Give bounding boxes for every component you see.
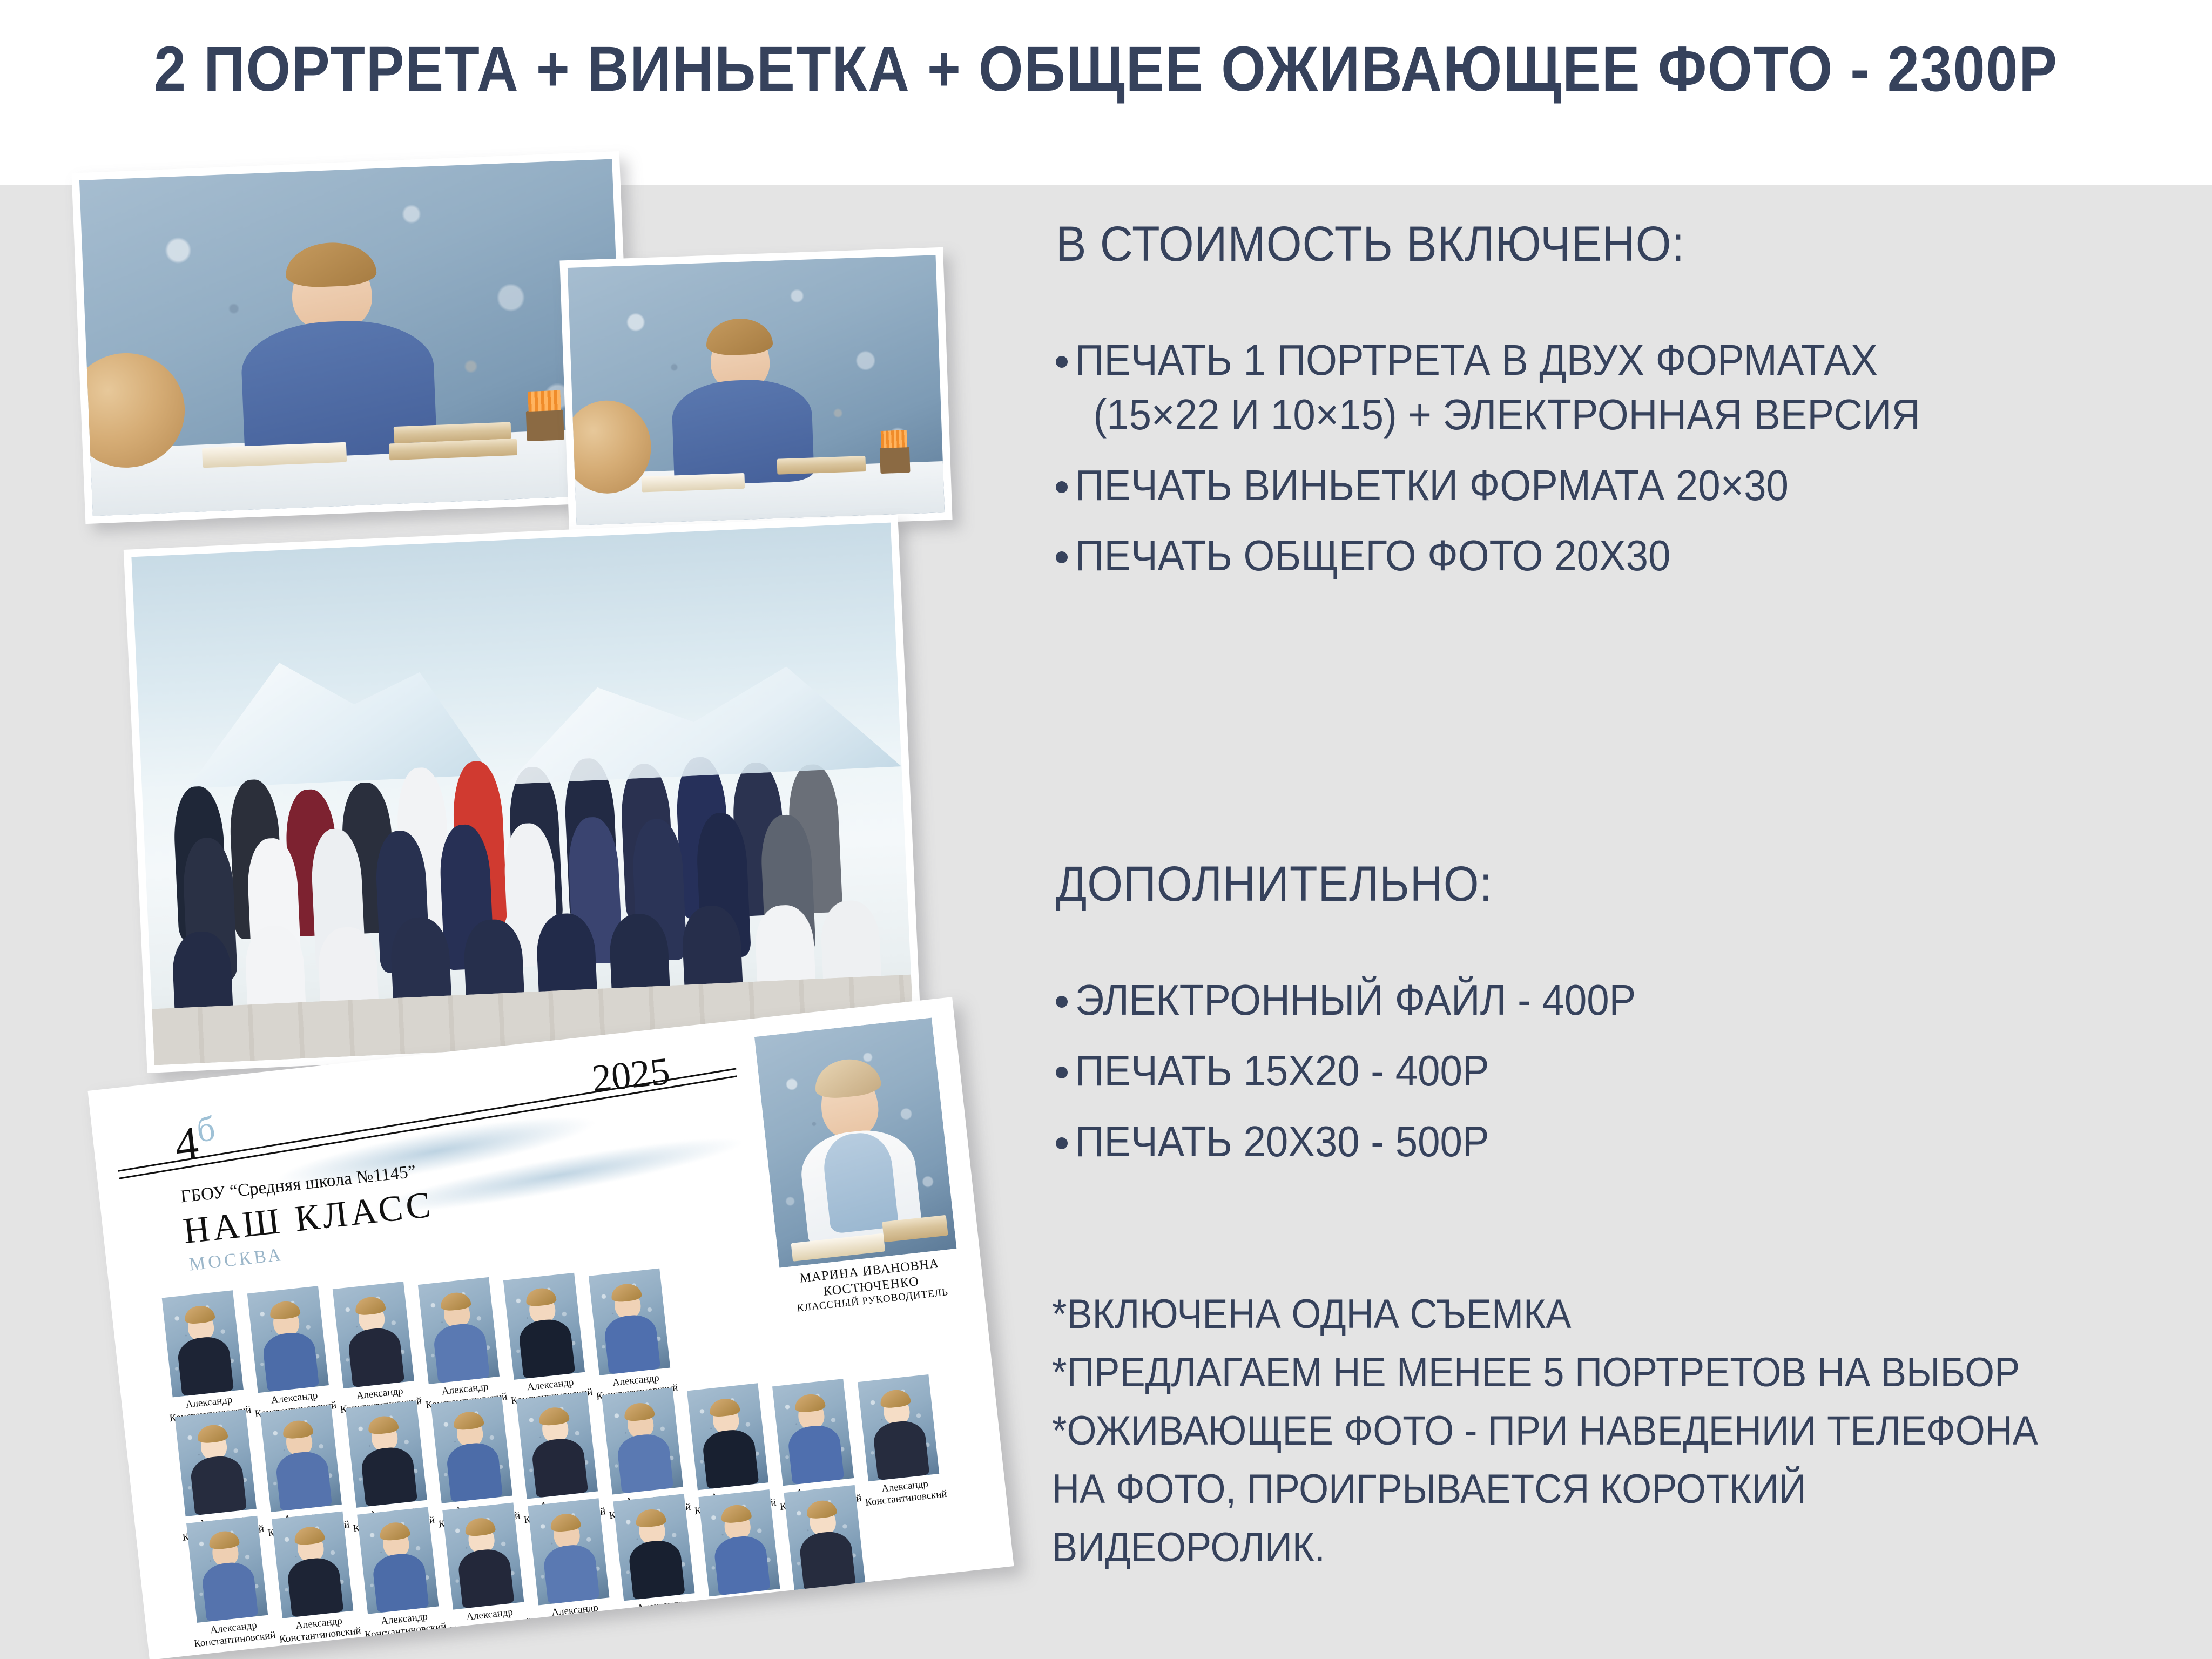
bullet-dot-icon <box>1056 481 1068 493</box>
student-name: Александр Константиновский <box>190 1617 279 1651</box>
included-item-2: ПЕЧАТЬ ОБЩЕГО ФОТО 20Х30 <box>1075 529 1670 583</box>
books-stack <box>777 456 866 474</box>
student-photo <box>357 1507 439 1614</box>
student-photo <box>613 1494 694 1601</box>
extra-item-0: ЭЛЕКТРОННЫЙ ФАЙЛ - 400Р <box>1075 973 1636 1028</box>
group-photo-card <box>124 515 922 1073</box>
bullet-dot-icon <box>1056 1137 1068 1149</box>
student-photo <box>418 1277 500 1384</box>
vignette-year: 2025 <box>590 1049 672 1102</box>
student-photo <box>516 1392 598 1499</box>
student-photo <box>346 1401 427 1508</box>
student-photo <box>698 1489 780 1596</box>
list-item: ПЕЧАТЬ ОБЩЕГО ФОТО 20Х30 <box>1056 529 2163 583</box>
vignette-class-number: 4б <box>172 1111 219 1168</box>
extra-item-1: ПЕЧАТЬ 15Х20 - 400Р <box>1075 1044 1489 1098</box>
bullet-dot-icon <box>1056 1067 1068 1078</box>
bullet-dot-icon <box>1056 996 1068 1008</box>
pencil-cup <box>526 410 564 442</box>
page-title: 2 ПОРТРЕТА + ВИНЬЕТКА + ОБЩЕЕ ОЖИВАЮЩЕЕ … <box>111 32 2101 106</box>
child-hair <box>706 318 773 356</box>
included-item-0: ПЕЧАТЬ 1 ПОРТРЕТА В ДВУХ ФОРМАТАХ <box>1075 333 1920 388</box>
student-photo <box>503 1273 585 1380</box>
student-photo <box>589 1269 670 1375</box>
pencil-cup <box>880 447 910 474</box>
footnotes: *ВКЛЮЧЕНА ОДНА СЪЕМКА *ПРЕДЛАГАЕМ НЕ МЕН… <box>1052 1285 2117 1577</box>
vignette-card: 4б ГБОУ “Средняя школа №1145” НАШ КЛАСС … <box>87 997 1014 1659</box>
teacher-photo <box>754 1017 957 1267</box>
list-item: ЭЛЕКТРОННЫЙ ФАЙЛ - 400Р <box>1056 973 2163 1028</box>
bullet-dot-icon <box>1056 551 1068 563</box>
list-item: ПЕЧАТЬ 20Х30 - 500Р <box>1056 1115 2163 1169</box>
student-photo <box>858 1374 939 1481</box>
portrait-small-card <box>559 247 952 533</box>
extra-section: ДОПОЛНИТЕЛЬНО: ЭЛЕКТРОННЫЙ ФАЙЛ - 400Р П… <box>1056 856 2163 1185</box>
bullet-dot-icon <box>1056 356 1068 368</box>
student-photo <box>247 1286 329 1393</box>
poster-page: 2 ПОРТРЕТА + ВИНЬЕТКА + ОБЩЕЕ ОЖИВАЮЩЕЕ … <box>0 0 2212 1659</box>
student-photo <box>772 1379 854 1486</box>
student-photo <box>431 1397 512 1503</box>
student-photo <box>272 1512 353 1618</box>
student-photo <box>784 1485 865 1592</box>
student-photo <box>175 1410 257 1516</box>
vignette-class-letter: б <box>195 1109 217 1150</box>
included-section: В СТОИМОСТЬ ВКЛЮЧЕНО: ПЕЧАТЬ 1 ПОРТРЕТА … <box>1056 216 2163 599</box>
extra-heading: ДОПОЛНИТЕЛЬНО: <box>1056 856 2074 913</box>
student-photo <box>687 1383 768 1490</box>
portrait-small-photo <box>568 255 945 525</box>
student-photo <box>162 1290 244 1397</box>
student-photo <box>528 1498 609 1605</box>
list-item: ПЕЧАТЬ 15Х20 - 400Р <box>1056 1044 2163 1098</box>
student-photo <box>186 1516 268 1623</box>
student-photo <box>333 1282 414 1388</box>
child-hair <box>285 241 377 288</box>
included-item-1: ПЕЧАТЬ ВИНЬЕТКИ ФОРМАТА 20×30 <box>1075 458 1789 513</box>
list-item: ПЕЧАТЬ ВИНЬЕТКИ ФОРМАТА 20×30 <box>1056 458 2163 513</box>
portrait-large-card <box>71 151 633 524</box>
student-name: Александр Константиновский <box>861 1476 950 1509</box>
extra-list: ЭЛЕКТРОННЫЙ ФАЙЛ - 400Р ПЕЧАТЬ 15Х20 - 4… <box>1056 973 2163 1169</box>
included-heading: В СТОИМОСТЬ ВКЛЮЧЕНО: <box>1056 216 2074 273</box>
list-item: ПЕЧАТЬ 1 ПОРТРЕТА В ДВУХ ФОРМАТАХ (15×22… <box>1056 333 2163 442</box>
extra-item-2: ПЕЧАТЬ 20Х30 - 500Р <box>1075 1115 1489 1169</box>
included-item-0-continuation: (15×22 И 10×15) + ЭЛЕКТРОННАЯ ВЕРСИЯ <box>1075 388 1920 442</box>
group-photo <box>131 523 913 1065</box>
portrait-large-photo <box>79 159 625 516</box>
student-photo <box>442 1502 524 1609</box>
student-photo <box>602 1387 683 1494</box>
student-photo <box>260 1405 342 1512</box>
included-list: ПЕЧАТЬ 1 ПОРТРЕТА В ДВУХ ФОРМАТАХ (15×22… <box>1056 333 2163 583</box>
